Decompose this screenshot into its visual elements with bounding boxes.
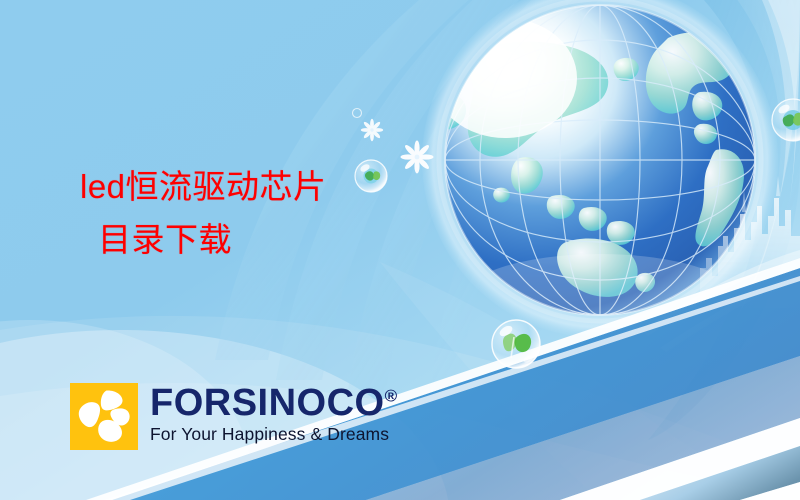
brand-name: FORSINOCO® <box>150 385 397 422</box>
four-petal-pinwheel-icon <box>70 383 138 450</box>
bubble-leaf <box>492 320 540 368</box>
brand-tagline: For Your Happiness & Dreams <box>150 425 397 444</box>
headline-line-1: led恒流驱动芯片 <box>80 160 480 213</box>
registered-trademark-icon: ® <box>385 386 398 405</box>
banner-canvas: led恒流驱动芯片 目录下载 FORSINOCO® <box>0 0 800 500</box>
brand-text-block: FORSINOCO® For Your Happiness & Dreams <box>150 383 397 444</box>
headline-line-2: 目录下载 <box>80 213 480 266</box>
brand-logo-lockup[interactable]: FORSINOCO® For Your Happiness & Dreams <box>70 383 397 450</box>
brand-wordmark: FORSINOCO <box>150 382 385 424</box>
sparkle-flower-small <box>361 119 383 141</box>
headline-block: led恒流驱动芯片 目录下载 <box>80 160 480 267</box>
